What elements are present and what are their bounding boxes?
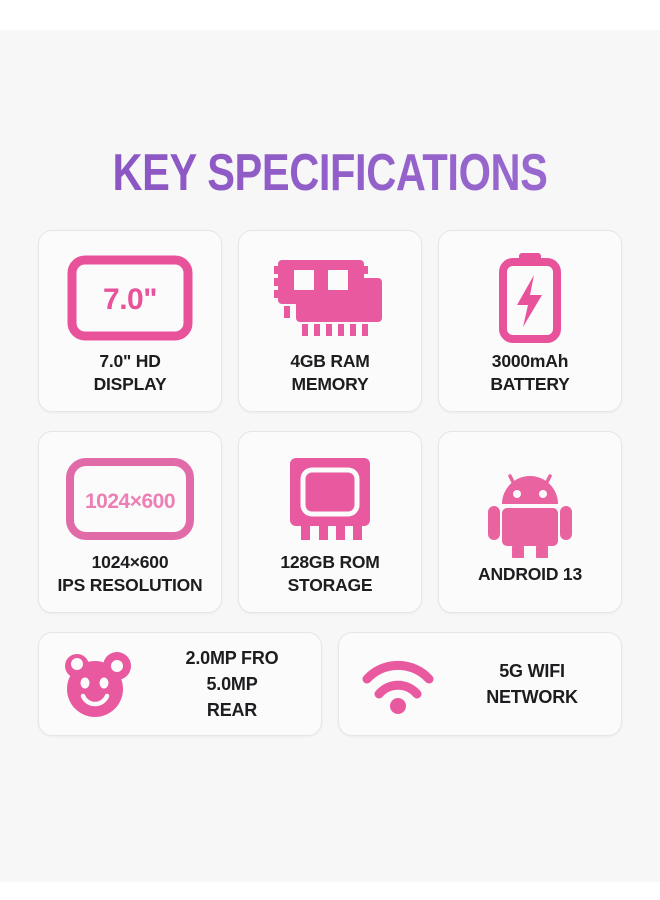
storage-chip-icon	[284, 453, 376, 545]
spec-card-label: 4GB RAM MEMORY	[290, 350, 369, 396]
top-white-band	[0, 0, 660, 30]
ram-module-icon	[274, 252, 386, 344]
wifi-signal-icon	[357, 647, 439, 721]
spec-card-label: 3000mAh BATTERY	[490, 350, 569, 396]
spec-row-2: 1024×600 1024×600 IPS RESOLUTION	[38, 431, 622, 613]
spec-row-3: 2.0MP FRO 5.0MP REAR 5G WIFI NETWORK	[38, 632, 622, 736]
resolution-screen-icon: 1024×600	[65, 453, 195, 545]
spec-card-label: 128GB ROM STORAGE	[280, 551, 379, 597]
spec-sheet-canvas: KEY SPECIFICATIONS 7.0" 7.0" HD DISPLAY	[0, 0, 660, 900]
spec-card-label: ANDROID 13	[478, 563, 582, 586]
battery-bolt-icon	[492, 252, 568, 344]
spec-card-battery[interactable]: 3000mAh BATTERY	[438, 230, 622, 412]
android-robot-icon	[482, 465, 578, 557]
spec-card-display[interactable]: 7.0" 7.0" HD DISPLAY	[38, 230, 222, 412]
spec-card-label: 1024×600 IPS RESOLUTION	[58, 551, 203, 597]
spec-grid: 7.0" 7.0" HD DISPLAY	[38, 230, 622, 736]
spec-card-resolution[interactable]: 1024×600 1024×600 IPS RESOLUTION	[38, 431, 222, 613]
display-size-text: 7.0"	[103, 283, 157, 316]
spec-row-1: 7.0" 7.0" HD DISPLAY	[38, 230, 622, 412]
resolution-value-text: 1024×600	[85, 490, 175, 513]
spec-card-label: 7.0" HD DISPLAY	[94, 350, 167, 396]
spec-card-label: 2.0MP FRO 5.0MP REAR	[153, 645, 311, 723]
spec-card-camera[interactable]: 2.0MP FRO 5.0MP REAR	[38, 632, 322, 736]
spec-card-ram[interactable]: 4GB RAM MEMORY	[238, 230, 422, 412]
spec-card-storage[interactable]: 128GB ROM STORAGE	[238, 431, 422, 613]
bottom-white-band	[0, 882, 660, 900]
spec-card-label: 5G WIFI NETWORK	[453, 658, 611, 710]
camera-bear-face-icon	[57, 647, 139, 721]
spec-card-android[interactable]: ANDROID 13	[438, 431, 622, 613]
spec-card-wifi[interactable]: 5G WIFI NETWORK	[338, 632, 622, 736]
page-title: KEY SPECIFICATIONS	[66, 143, 594, 203]
display-screen-icon: 7.0"	[67, 252, 193, 344]
